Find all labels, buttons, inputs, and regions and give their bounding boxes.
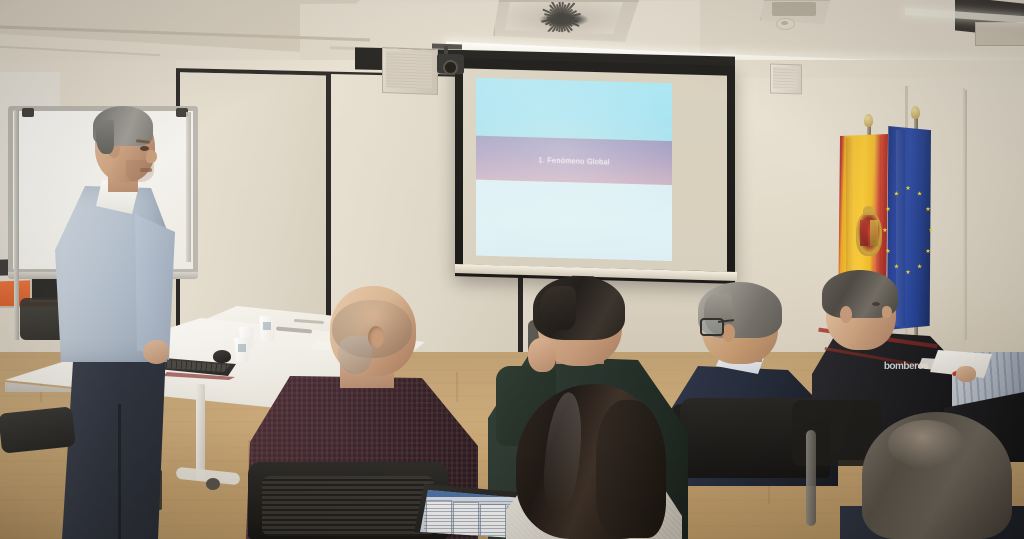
eu-star-icon xyxy=(917,191,922,196)
mouth xyxy=(140,168,152,172)
beard xyxy=(338,336,372,374)
eu-star-icon xyxy=(926,249,931,254)
flagpole-finial xyxy=(911,106,920,119)
nose xyxy=(882,306,892,318)
nose xyxy=(146,150,157,163)
hand xyxy=(528,338,556,372)
screen-sheen xyxy=(463,68,727,271)
ceiling-vent-grille xyxy=(772,2,816,16)
smoke-detector-led xyxy=(781,21,788,25)
flagpole-finial xyxy=(864,114,873,127)
projection-screen: 1. Fenómeno Global xyxy=(463,68,727,271)
presenter-hand xyxy=(143,340,169,364)
air-diffuser-blades xyxy=(505,2,623,34)
table-leg xyxy=(196,384,205,480)
eu-star-icon xyxy=(906,270,911,275)
cup-logo xyxy=(238,344,246,352)
coat-of-arms-quarter xyxy=(860,220,868,246)
cup-logo xyxy=(263,322,271,330)
eu-star-icon xyxy=(894,264,899,269)
ear xyxy=(840,306,852,323)
presenter-arm xyxy=(135,214,175,360)
door[interactable] xyxy=(965,90,1024,340)
presenter-hair xyxy=(96,120,114,154)
caster-wheel xyxy=(206,478,220,490)
whiteboard-stand xyxy=(14,110,19,340)
partition-frame xyxy=(326,74,331,354)
presenter-trousers xyxy=(62,346,166,539)
eye xyxy=(872,302,880,306)
trouser-seam xyxy=(118,404,121,539)
chair-frame xyxy=(806,430,816,526)
hand xyxy=(956,366,976,382)
eu-star-icon xyxy=(894,191,899,196)
scalp-highlight xyxy=(888,420,964,468)
coat-of-arms-quarter xyxy=(870,220,878,246)
whiteboard-clip xyxy=(22,108,34,117)
crown-icon xyxy=(863,206,875,215)
mouse[interactable] xyxy=(213,350,231,363)
eu-star-icon xyxy=(886,249,891,254)
attendee-long-hair xyxy=(596,400,666,538)
speaker-grille xyxy=(773,67,797,90)
whiteboard-stand xyxy=(186,112,191,262)
chair[interactable] xyxy=(0,406,76,454)
eu-star-icon xyxy=(926,207,931,212)
speaker-grille xyxy=(386,51,432,89)
projector-lens-icon xyxy=(443,60,458,75)
attendee-hair xyxy=(540,286,576,330)
ceiling-panel xyxy=(975,22,1024,46)
chair-mesh-back xyxy=(262,476,434,536)
eu-star-icon xyxy=(886,207,891,212)
eu-star-icon xyxy=(917,264,922,269)
eu-star-icon xyxy=(906,186,911,191)
ear xyxy=(368,326,384,348)
meeting-room-photo: 1. Fenómeno Global xyxy=(0,0,1024,539)
